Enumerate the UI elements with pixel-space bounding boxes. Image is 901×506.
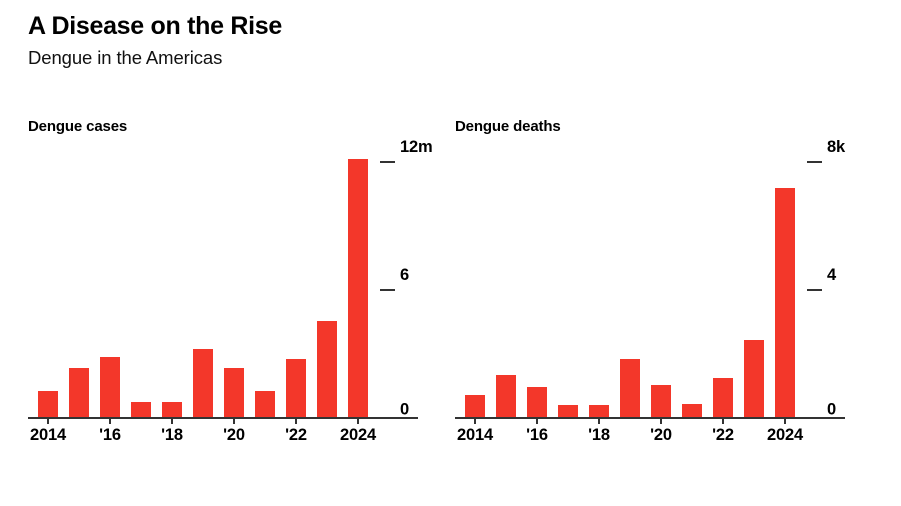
y-tick-label-4: 4	[827, 266, 836, 285]
bar-2021[interactable]	[682, 404, 702, 417]
x-axis-line-cases	[28, 417, 418, 419]
x-tick-2020	[233, 417, 235, 424]
panel-title-cases: Dengue cases	[28, 118, 418, 138]
x-tick-2018	[598, 417, 600, 424]
x-tick-label-2024: 2024	[340, 426, 376, 445]
bar-2018[interactable]	[589, 405, 609, 417]
x-tick-2024	[357, 417, 359, 424]
y-tick-label-6: 6	[400, 266, 409, 285]
bar-2014[interactable]	[38, 391, 58, 417]
x-tick-2016	[536, 417, 538, 424]
bar-2019[interactable]	[193, 349, 213, 417]
x-tick-label-2018: '18	[161, 426, 183, 445]
plot-area-deaths: 2014'16'18'20'222024 048k	[455, 161, 845, 461]
x-tick-2024	[784, 417, 786, 424]
plot-area-cases: 2014'16'18'20'222024 0612m	[28, 161, 418, 461]
bar-2017[interactable]	[131, 402, 151, 417]
page-title: A Disease on the Rise	[28, 12, 828, 41]
y-tick-label-0: 0	[400, 401, 409, 420]
bar-2016[interactable]	[527, 387, 547, 417]
x-tick-2016	[109, 417, 111, 424]
page-subtitle: Dengue in the Americas	[28, 47, 828, 69]
bar-2020[interactable]	[651, 385, 671, 417]
bar-2023[interactable]	[744, 340, 764, 417]
bar-2015[interactable]	[496, 375, 516, 417]
chart-header: A Disease on the Rise Dengue in the Amer…	[28, 12, 828, 69]
x-tick-2018	[171, 417, 173, 424]
bar-2024[interactable]	[348, 159, 368, 417]
y-tick-12	[380, 161, 395, 163]
panel-dengue-cases: Dengue cases 2014'16'18'20'222024 0612m	[28, 118, 418, 461]
x-tick-label-2022: '22	[285, 426, 307, 445]
y-tick-4	[807, 289, 822, 291]
x-tick-label-2018: '18	[588, 426, 610, 445]
bar-2020[interactable]	[224, 368, 244, 417]
x-tick-2022	[295, 417, 297, 424]
x-tick-2014	[47, 417, 49, 424]
bar-2019[interactable]	[620, 359, 640, 417]
x-tick-label-2020: '20	[650, 426, 672, 445]
x-tick-label-2014: 2014	[457, 426, 493, 445]
bar-2016[interactable]	[100, 357, 120, 417]
bar-2014[interactable]	[465, 395, 485, 417]
y-tick-label-12: 12m	[400, 138, 432, 157]
bar-series-deaths	[455, 161, 801, 417]
x-tick-2020	[660, 417, 662, 424]
bar-2017[interactable]	[558, 405, 578, 417]
x-tick-label-2016: '16	[526, 426, 548, 445]
bar-2018[interactable]	[162, 402, 182, 417]
bar-2023[interactable]	[317, 321, 337, 417]
y-tick-label-8: 8k	[827, 138, 845, 157]
x-tick-label-2020: '20	[223, 426, 245, 445]
bar-2022[interactable]	[286, 359, 306, 417]
bar-series-cases	[28, 161, 374, 417]
y-tick-8	[807, 161, 822, 163]
bar-2024[interactable]	[775, 188, 795, 417]
x-tick-label-2016: '16	[99, 426, 121, 445]
x-tick-label-2022: '22	[712, 426, 734, 445]
y-tick-label-0: 0	[827, 401, 836, 420]
bar-2022[interactable]	[713, 378, 733, 417]
bar-2021[interactable]	[255, 391, 275, 417]
y-tick-6	[380, 289, 395, 291]
panel-title-deaths: Dengue deaths	[455, 118, 845, 138]
panel-dengue-deaths: Dengue deaths 2014'16'18'20'222024 048k	[455, 118, 845, 461]
x-axis-line-deaths	[455, 417, 845, 419]
x-tick-label-2014: 2014	[30, 426, 66, 445]
bar-2015[interactable]	[69, 368, 89, 417]
x-tick-label-2024: 2024	[767, 426, 803, 445]
x-tick-2022	[722, 417, 724, 424]
x-tick-2014	[474, 417, 476, 424]
